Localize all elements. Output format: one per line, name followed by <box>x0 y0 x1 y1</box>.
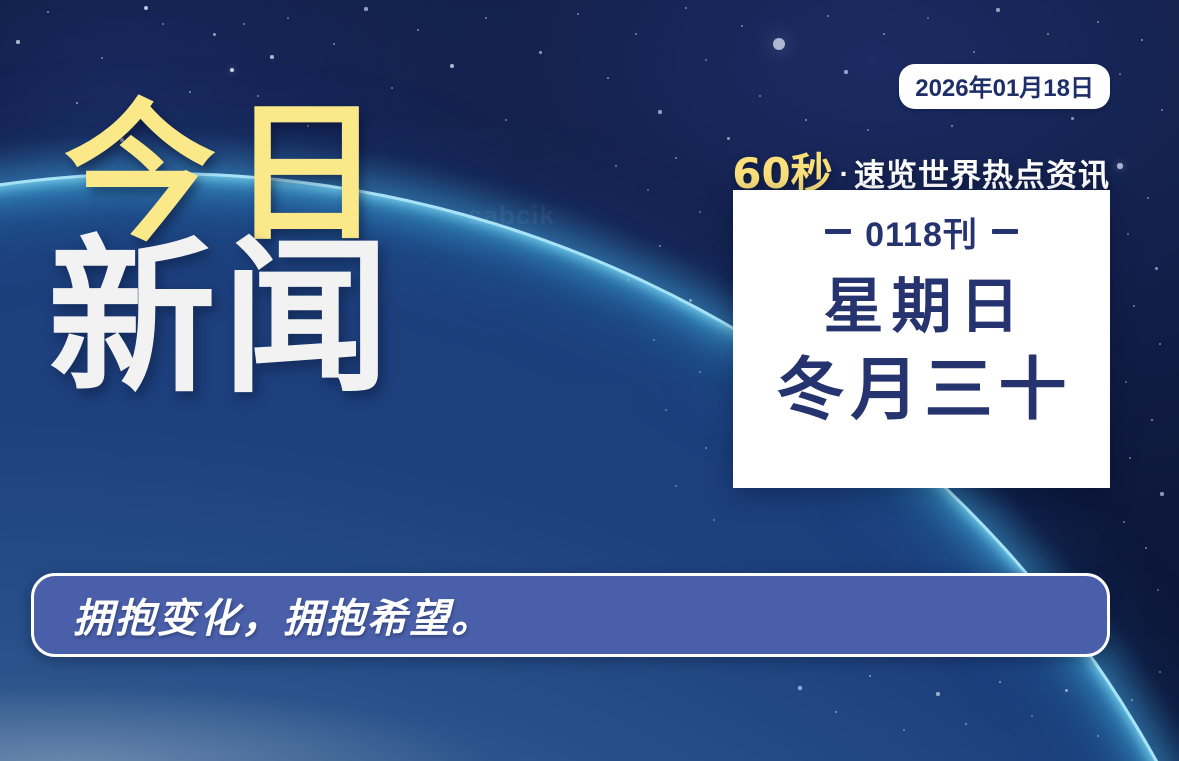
watermark-text: sabcik <box>468 200 555 231</box>
tagline-separator: · <box>833 158 854 189</box>
lunar-date-label: 冬月三十 <box>770 354 1072 429</box>
quote-banner: 拥抱变化，拥抱希望。 <box>31 573 1110 657</box>
dash-left-icon <box>825 229 851 234</box>
page-title: 今日 新闻 <box>48 96 396 404</box>
date-badge: 2026年01月18日 <box>899 64 1110 109</box>
issue-number: 0118刊 <box>865 207 978 256</box>
news-poster: sabcik 今日 新闻 2026年01月18日 60秒·速览世界热点资讯 01… <box>0 0 1179 761</box>
title-line-news: 新闻 <box>48 233 396 404</box>
dash-right-icon <box>992 229 1018 234</box>
tagline-text: 速览世界热点资讯 <box>854 158 1110 193</box>
weekday-label: 星期日 <box>816 274 1028 340</box>
quote-text: 拥抱变化，拥抱希望。 <box>34 586 493 644</box>
issue-info-card: 0118刊 星期日 冬月三十 <box>733 190 1110 488</box>
issue-row: 0118刊 <box>825 207 1018 256</box>
